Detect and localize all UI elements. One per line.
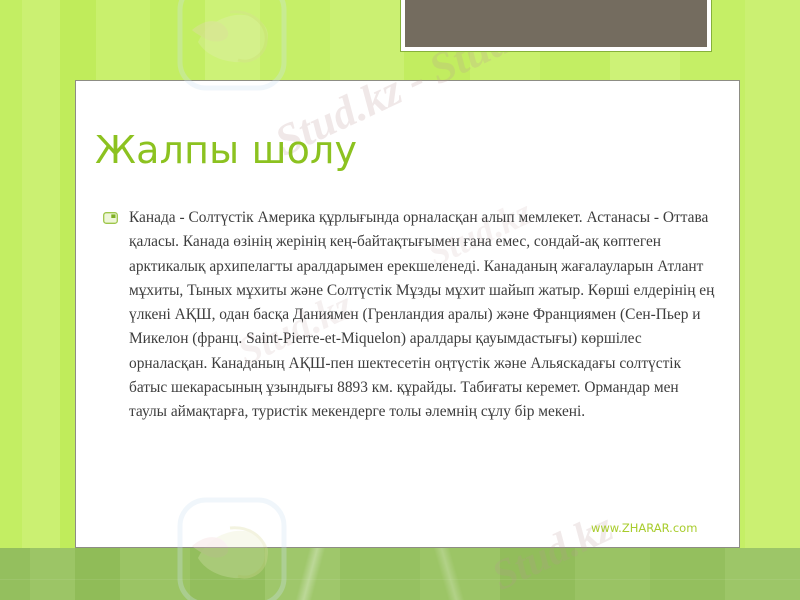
presentation-slide: Stud.kz - Stud.kz Stud.kz Stud.kz Stud.k… [0,0,800,600]
slide-body-paragraph: Канада - Солтүстік Америка құрлығында ор… [129,206,715,425]
header-decoration-fill [405,0,707,47]
slide-title: Жалпы шолу [95,128,357,172]
green-square-bullet-icon [103,212,118,224]
header-decoration-box [400,0,712,52]
footer-site-url: www.ZHARAR.com [591,521,697,535]
slide-background-bottom-band [0,548,800,600]
slide-body: Канада - Солтүстік Америка құрлығында ор… [103,206,715,425]
